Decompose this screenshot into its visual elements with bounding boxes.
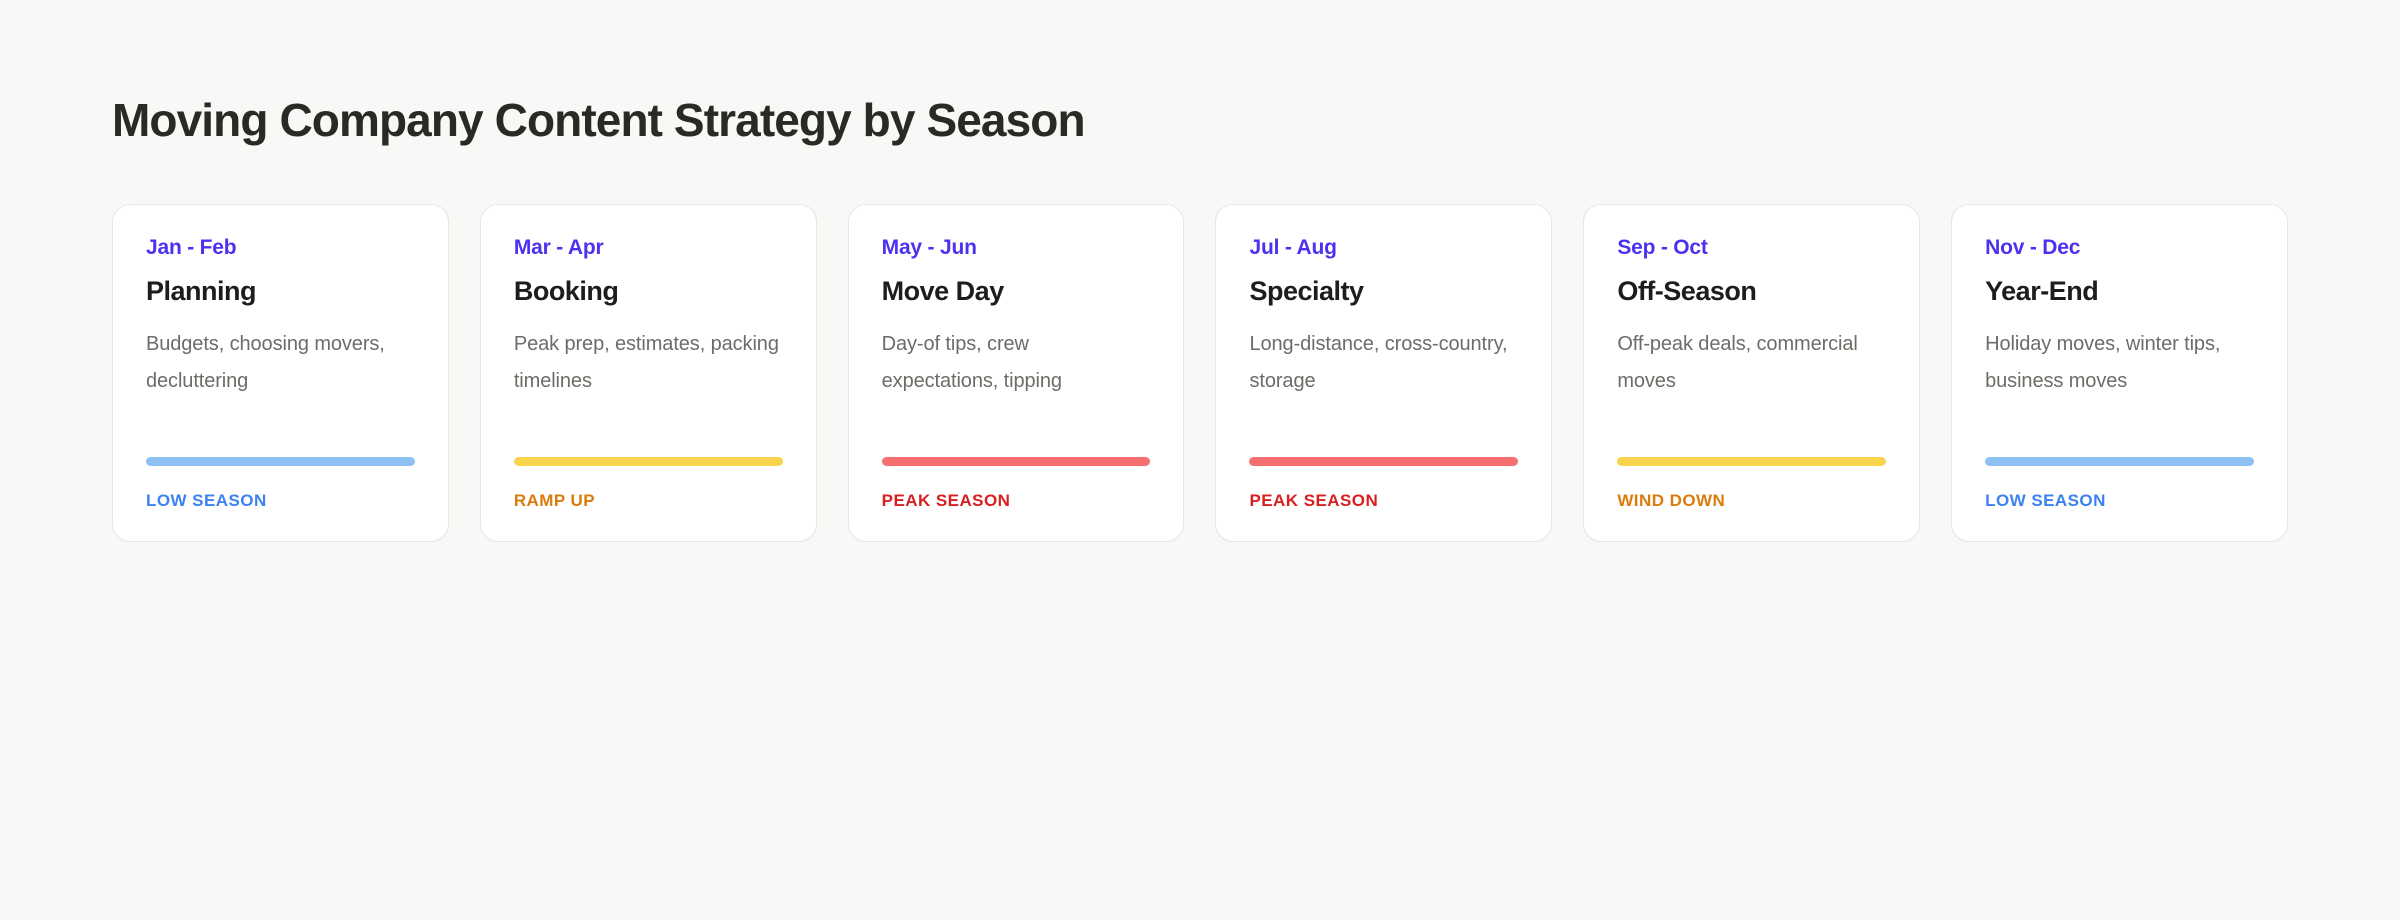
season-card[interactable]: Jul - AugSpecialtyLong-distance, cross-c…: [1215, 204, 1552, 542]
card-months-label: Jul - Aug: [1249, 235, 1518, 261]
card-months-label: Sep - Oct: [1617, 235, 1886, 261]
season-intensity-bar: [514, 457, 783, 466]
card-phase-title: Move Day: [882, 275, 1151, 308]
card-topics-text: Long-distance, cross-country, storage: [1249, 326, 1518, 400]
card-phase-title: Off-Season: [1617, 275, 1886, 308]
season-status-label: WIND DOWN: [1617, 490, 1886, 511]
card-topics-text: Budgets, choosing movers, decluttering: [146, 326, 415, 400]
season-status-label: PEAK SEASON: [1249, 490, 1518, 511]
season-card[interactable]: Mar - AprBookingPeak prep, estimates, pa…: [480, 204, 817, 542]
card-spacer: [1249, 400, 1518, 457]
season-intensity-bar: [882, 457, 1151, 466]
season-status-label: LOW SEASON: [146, 490, 415, 511]
card-spacer: [146, 400, 415, 457]
season-status-label: RAMP UP: [514, 490, 783, 511]
card-topics-text: Peak prep, estimates, packing timelines: [514, 326, 783, 400]
card-phase-title: Specialty: [1249, 275, 1518, 308]
page-title: Moving Company Content Strategy by Seaso…: [112, 92, 1085, 148]
card-topics-text: Holiday moves, winter tips, business mov…: [1985, 326, 2254, 400]
season-status-label: PEAK SEASON: [882, 490, 1151, 511]
card-spacer: [1617, 400, 1886, 457]
season-card[interactable]: Nov - DecYear-EndHoliday moves, winter t…: [1951, 204, 2288, 542]
season-card[interactable]: Sep - OctOff-SeasonOff-peak deals, comme…: [1583, 204, 1920, 542]
card-months-label: Nov - Dec: [1985, 235, 2254, 261]
card-months-label: Jan - Feb: [146, 235, 415, 261]
season-status-label: LOW SEASON: [1985, 490, 2254, 511]
card-spacer: [1985, 400, 2254, 457]
card-topics-text: Day-of tips, crew expectations, tipping: [882, 326, 1151, 400]
season-intensity-bar: [1249, 457, 1518, 466]
season-card[interactable]: Jan - FebPlanningBudgets, choosing mover…: [112, 204, 449, 542]
season-intensity-bar: [146, 457, 415, 466]
card-months-label: May - Jun: [882, 235, 1151, 261]
card-topics-text: Off-peak deals, commercial moves: [1617, 326, 1886, 400]
season-strategy-page: Moving Company Content Strategy by Seaso…: [0, 0, 2400, 920]
card-months-label: Mar - Apr: [514, 235, 783, 261]
season-card[interactable]: May - JunMove DayDay-of tips, crew expec…: [848, 204, 1185, 542]
card-phase-title: Planning: [146, 275, 415, 308]
card-spacer: [514, 400, 783, 457]
season-intensity-bar: [1617, 457, 1886, 466]
card-phase-title: Year-End: [1985, 275, 2254, 308]
card-phase-title: Booking: [514, 275, 783, 308]
season-cards-grid: Jan - FebPlanningBudgets, choosing mover…: [112, 204, 2288, 542]
card-spacer: [882, 400, 1151, 457]
season-intensity-bar: [1985, 457, 2254, 466]
